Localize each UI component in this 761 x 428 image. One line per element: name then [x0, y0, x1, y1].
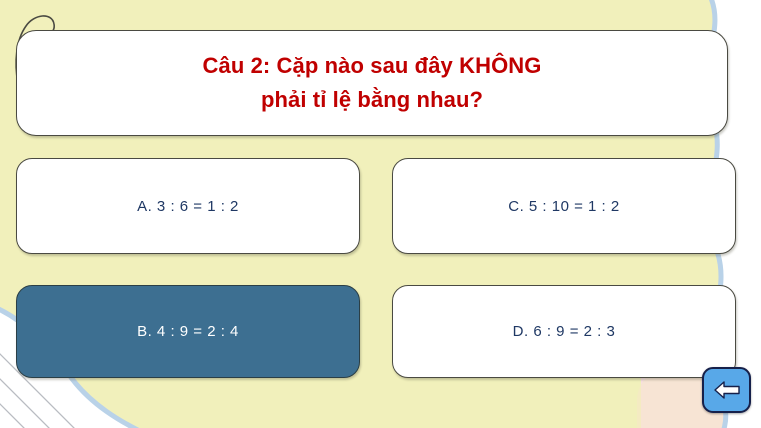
question-card: Câu 2: Cặp nào sau đây KHÔNG phải tỉ lệ …	[16, 30, 728, 136]
slide-canvas: Câu 2: Cặp nào sau đây KHÔNG phải tỉ lệ …	[0, 0, 761, 428]
answer-option-a[interactable]: A. 3 : 6 = 1 : 2	[16, 158, 360, 254]
answer-option-c[interactable]: C. 5 : 10 = 1 : 2	[392, 158, 736, 254]
answer-option-a-label: A. 3 : 6 = 1 : 2	[137, 198, 239, 215]
arrow-left-icon	[712, 379, 742, 401]
question-line-2: phải tỉ lệ bằng nhau?	[261, 83, 483, 117]
answer-option-d[interactable]: D. 6 : 9 = 2 : 3	[392, 285, 736, 378]
back-button[interactable]	[702, 367, 751, 413]
answer-option-d-label: D. 6 : 9 = 2 : 3	[513, 323, 616, 340]
question-line-1: Câu 2: Cặp nào sau đây KHÔNG	[203, 49, 542, 83]
answer-option-b[interactable]: B. 4 : 9 = 2 : 4	[16, 285, 360, 378]
answer-option-c-label: C. 5 : 10 = 1 : 2	[508, 198, 619, 215]
answer-option-b-label: B. 4 : 9 = 2 : 4	[137, 323, 239, 340]
